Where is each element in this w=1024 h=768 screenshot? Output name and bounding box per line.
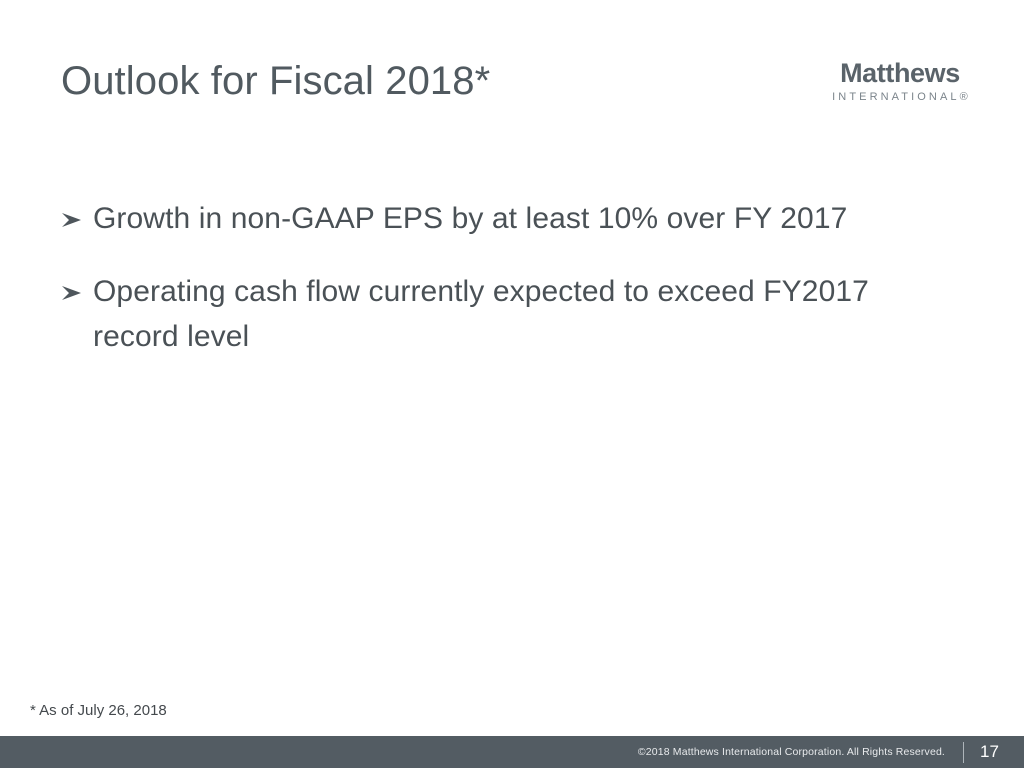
copyright-text: ©2018 Matthews International Corporation… <box>638 736 945 768</box>
page-title: Outlook for Fiscal 2018* <box>61 57 490 105</box>
logo-wordmark: Matthews <box>820 59 980 88</box>
bullet-list: Growth in non-GAAP EPS by at least 10% o… <box>61 196 961 387</box>
slide-footer: ©2018 Matthews International Corporation… <box>0 736 1024 768</box>
list-item: Operating cash flow currently expected t… <box>61 269 961 359</box>
list-item: Growth in non-GAAP EPS by at least 10% o… <box>61 196 961 241</box>
footer-divider <box>963 742 964 763</box>
company-logo: Matthews INTERNATIONAL® <box>820 59 980 105</box>
logo-subtitle: INTERNATIONAL® <box>820 90 980 105</box>
presentation-slide: Outlook for Fiscal 2018* Matthews INTERN… <box>0 0 1024 768</box>
page-number: 17 <box>980 736 1002 768</box>
bullet-text: Growth in non-GAAP EPS by at least 10% o… <box>93 196 883 241</box>
arrowhead-bullet-icon <box>61 269 93 301</box>
bullet-text: Operating cash flow currently expected t… <box>93 269 883 359</box>
footnote: * As of July 26, 2018 <box>30 701 167 721</box>
arrowhead-bullet-icon <box>61 196 93 228</box>
